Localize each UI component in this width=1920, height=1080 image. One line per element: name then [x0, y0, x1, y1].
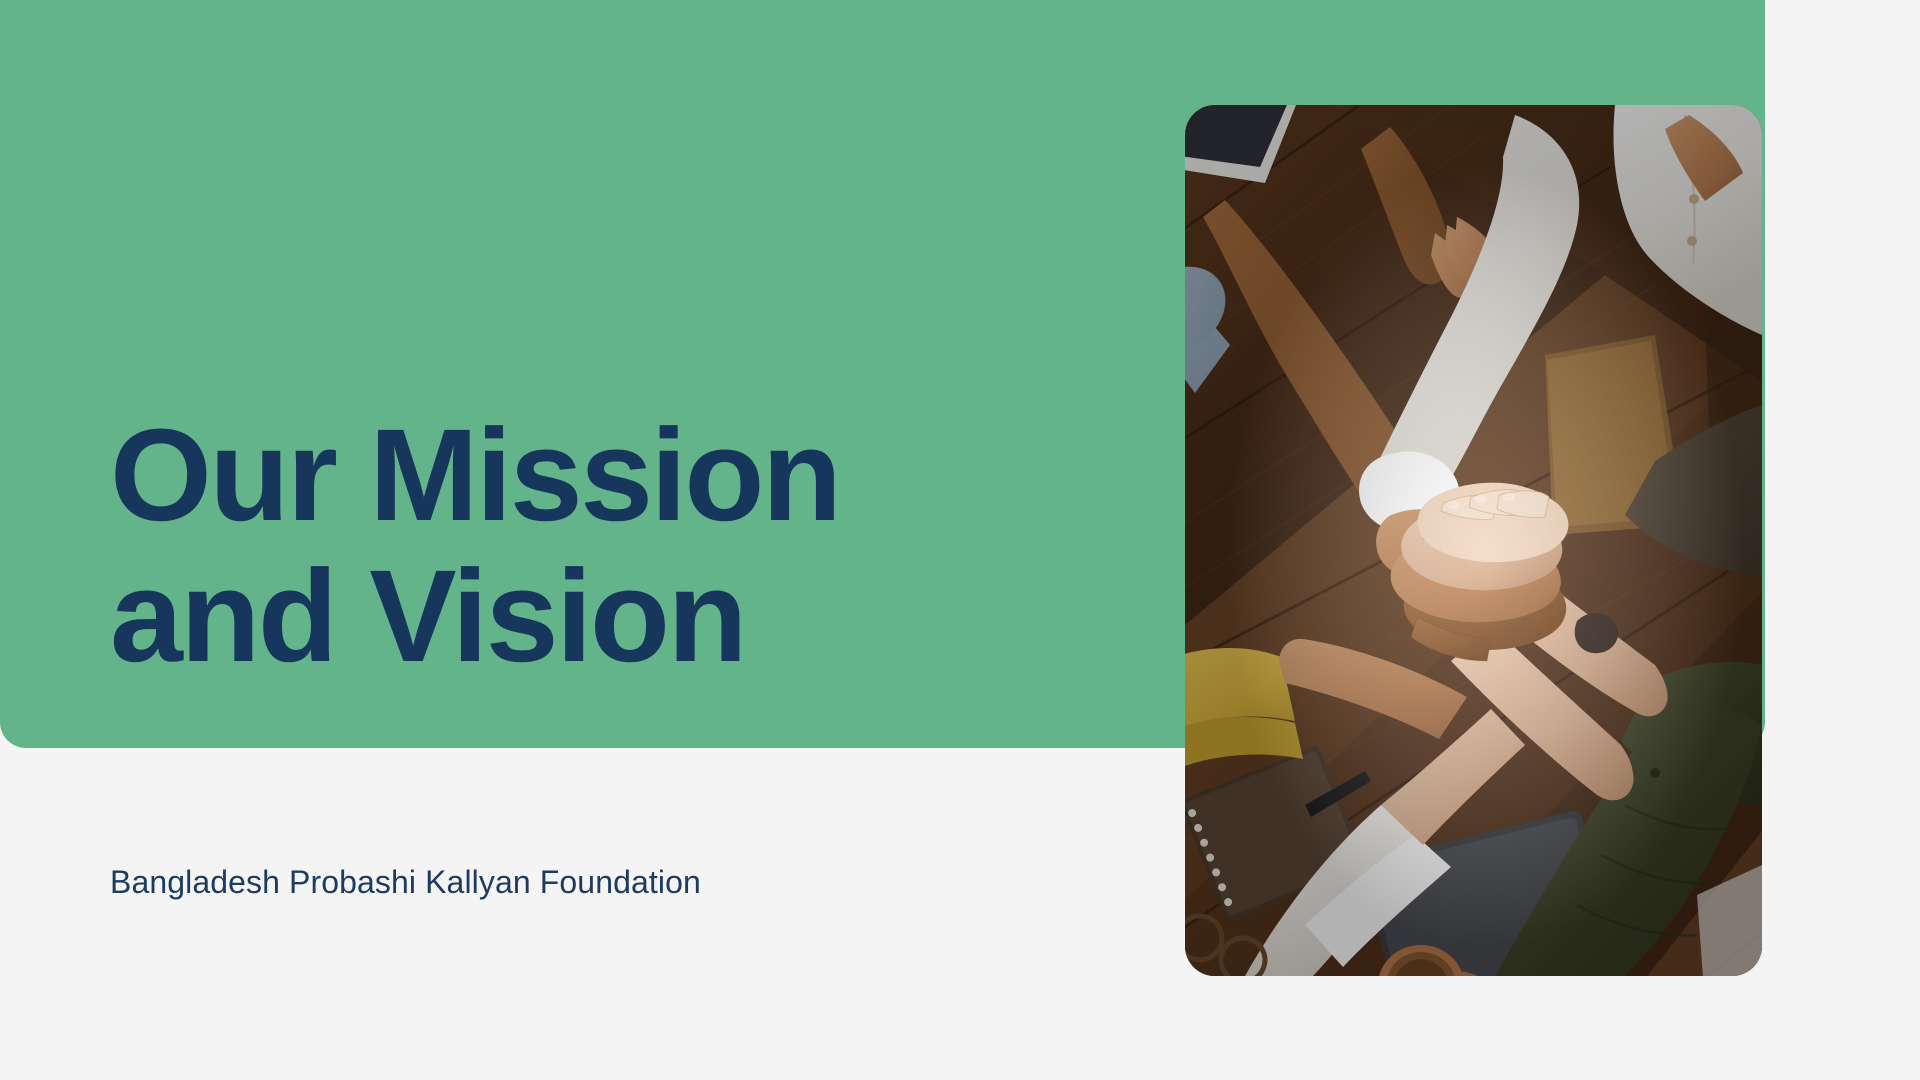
teamwork-hands-illustration — [1185, 105, 1762, 976]
title-block: Our Mission and Vision — [110, 404, 970, 687]
subtitle-block: Bangladesh Probashi Kallyan Foundation — [110, 862, 701, 904]
slide-canvas: Our Mission and Vision Bangladesh Probas… — [0, 0, 1920, 1080]
teamwork-hands-photo — [1185, 105, 1762, 976]
page-title: Our Mission and Vision — [110, 404, 970, 687]
organization-subtitle: Bangladesh Probashi Kallyan Foundation — [110, 862, 701, 904]
